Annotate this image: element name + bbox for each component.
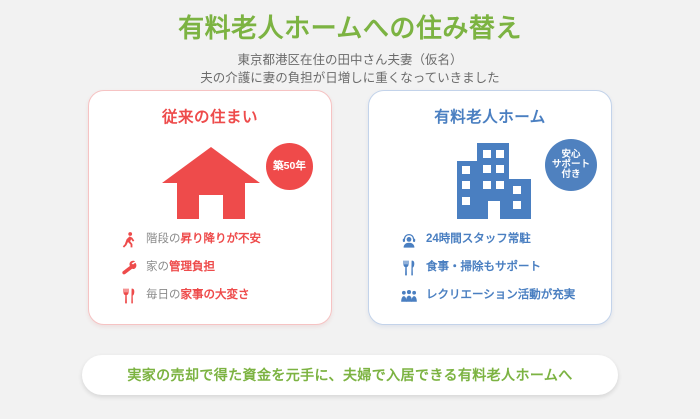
- fork-knife-icon: [401, 260, 417, 276]
- feature-item: 24時間スタッフ常駐: [401, 226, 611, 254]
- page-title: 有料老人ホームへの住み替え: [0, 12, 700, 45]
- feature-prefix: 階段の: [146, 233, 181, 245]
- card-traditional-home: 従来の住まい 築50年 階段の昇り降: [88, 90, 332, 325]
- badge-building-age: 築50年: [266, 143, 313, 190]
- conclusion-banner-text: 実家の売却で得た資金を元手に、夫婦で入居できる有料老人ホームへ: [127, 365, 572, 385]
- feature-list-senior-home: 24時間スタッフ常駐 食事・掃除もサポート: [369, 226, 611, 310]
- header: 有料老人ホームへの住み替え 東京都港区在住の田中さん夫妻（仮名） 夫の介護に妻の…: [0, 0, 700, 88]
- feature-item: 家の管理負担: [121, 254, 331, 282]
- feature-item: レクリエーション活動が充実: [401, 282, 611, 310]
- feature-text: 食事・掃除もサポート: [426, 261, 541, 275]
- feature-prefix: 家の: [146, 261, 169, 273]
- card-senior-home: 有料老人ホーム: [368, 90, 612, 325]
- stairs-walking-person-icon: [121, 232, 137, 248]
- subtitle-line-2: 夫の介護に妻の負担が日増しに重くなっていきました: [0, 69, 700, 88]
- illustration-senior-home: 安心 サポート 付き: [369, 131, 611, 235]
- feature-text: レクリエーション活動が充実: [426, 289, 575, 303]
- building-icon: [455, 141, 533, 226]
- infographic-page: 有料老人ホームへの住み替え 東京都港区在住の田中さん夫妻（仮名） 夫の介護に妻の…: [0, 0, 700, 419]
- feature-emphasis: 昇り降りが不安: [181, 233, 262, 245]
- card-title-senior-home: 有料老人ホーム: [369, 105, 611, 127]
- comparison-cards-row: 従来の住まい 築50年 階段の昇り降: [0, 90, 700, 325]
- subtitle-block: 東京都港区在住の田中さん夫妻（仮名） 夫の介護に妻の負担が日増しに重くなっていき…: [0, 51, 700, 89]
- feature-item: 毎日の家事の大変さ: [121, 282, 331, 310]
- staff-headset-person-icon: [401, 232, 417, 248]
- card-title-traditional: 従来の住まい: [89, 105, 331, 127]
- feature-text: 家の管理負担: [146, 261, 215, 275]
- feature-item: 食事・掃除もサポート: [401, 254, 611, 282]
- feature-text: 毎日の家事の大変さ: [146, 289, 250, 303]
- people-group-icon: [401, 288, 417, 304]
- feature-emphasis: 管理負担: [169, 261, 215, 273]
- illustration-traditional: 築50年: [89, 131, 331, 235]
- feature-prefix: 毎日の: [146, 289, 181, 301]
- feature-text: 階段の昇り降りが不安: [146, 233, 261, 247]
- conclusion-banner: 実家の売却で得た資金を元手に、夫婦で入居できる有料老人ホームへ: [82, 355, 618, 395]
- badge-support: 安心 サポート 付き: [545, 139, 597, 191]
- badge-support-line-3: 付き: [552, 170, 590, 180]
- house-icon: [161, 143, 261, 228]
- feature-text: 24時間スタッフ常駐: [426, 233, 531, 247]
- feature-list-traditional: 階段の昇り降りが不安 家の管理負担: [89, 226, 331, 310]
- wrench-icon: [121, 260, 137, 276]
- fork-knife-icon: [121, 288, 137, 304]
- subtitle-line-1: 東京都港区在住の田中さん夫妻（仮名）: [0, 51, 700, 70]
- feature-item: 階段の昇り降りが不安: [121, 226, 331, 254]
- feature-emphasis: 家事の大変さ: [181, 289, 250, 301]
